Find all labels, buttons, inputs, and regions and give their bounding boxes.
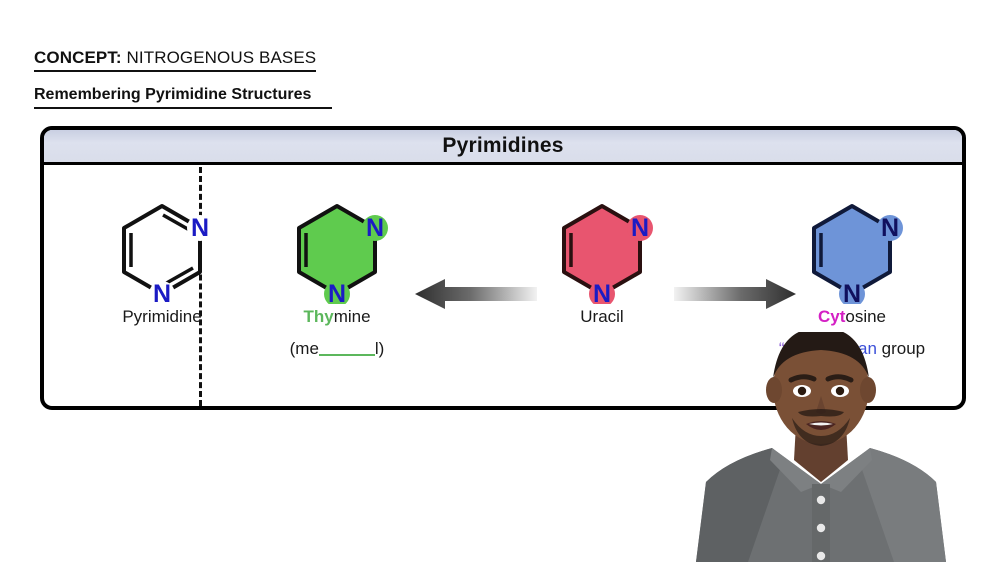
molecule-column-uracil: N N Uracil (512, 165, 692, 327)
panel-header: Pyrimidines (44, 130, 962, 165)
concept-text: NITROGENOUS BASES (122, 48, 317, 67)
cytosine-ring-icon: N N (796, 192, 908, 304)
svg-text:N: N (593, 280, 611, 304)
label-uracil-text: Uracil (580, 307, 623, 326)
molecule-column-pyrimidine: N N Pyrimidine (72, 165, 252, 327)
panel-title: Pyrimidines (442, 134, 563, 158)
uracil-ring-wrap: N N (512, 165, 692, 305)
label-thymine-rest: mine (334, 307, 371, 326)
subtitle-heading-underline (34, 107, 332, 109)
concept-heading-underline (34, 70, 316, 72)
svg-text:N: N (328, 280, 346, 304)
concept-keyword: CONCEPT: (34, 48, 122, 67)
svg-text:N: N (843, 280, 861, 304)
label-pyrimidine: Pyrimidine (72, 307, 252, 327)
label-pyrimidine-text: Pyrimidine (122, 307, 201, 326)
svg-text:N: N (153, 280, 171, 304)
thymine-fill-in-blank: (mel) (247, 339, 427, 359)
thymine-blank-field[interactable] (319, 354, 375, 356)
label-uracil: Uracil (512, 307, 692, 327)
thymine-blank-prefix: (me (290, 339, 319, 358)
concept-heading: CONCEPT: NITROGENOUS BASES (34, 48, 316, 68)
thymine-ring-icon: N N (281, 192, 393, 304)
arrow-uracil-to-cytosine (674, 277, 796, 311)
svg-text:N: N (631, 214, 649, 242)
thymine-blank-suffix: l) (375, 339, 384, 358)
label-cytosine-rest: osine (845, 307, 886, 326)
subtitle-heading: Remembering Pyrimidine Structures (34, 86, 311, 104)
label-thymine: Thymine (247, 307, 427, 327)
pyrimidine-ring-icon: N N (106, 192, 218, 304)
presenter-video (688, 332, 954, 562)
pyrimidine-ring-wrap: N N (72, 165, 252, 305)
svg-text:N: N (366, 214, 384, 242)
molecule-column-thymine: N N Thymine (mel) (247, 165, 427, 359)
svg-text:N: N (881, 214, 899, 242)
svg-text:N: N (191, 214, 209, 242)
molecule-column-cytosine: N N Cytosine “ean group (762, 165, 942, 359)
thymine-ring-wrap: N N (247, 165, 427, 305)
uracil-ring-icon: N N (546, 192, 658, 304)
presenter-figure (688, 332, 954, 562)
label-cytosine-highlight: Cyt (818, 307, 845, 326)
arrow-uracil-to-thymine (415, 277, 537, 311)
label-thymine-highlight: Thy (303, 307, 333, 326)
